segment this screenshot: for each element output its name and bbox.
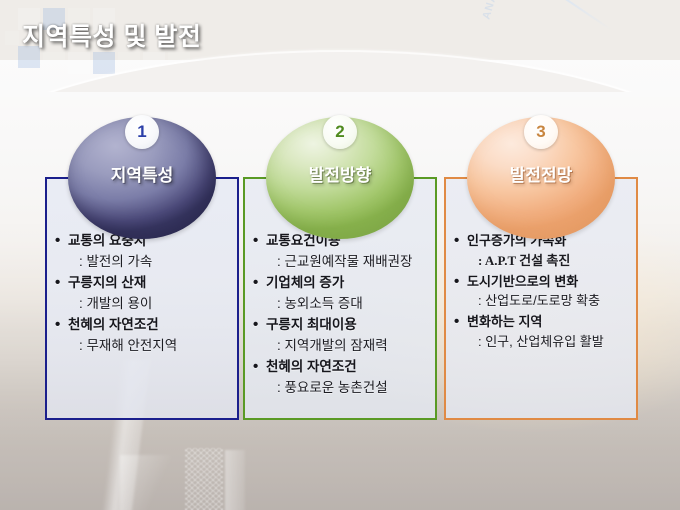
column-local-characteristics: 교통의 요충지 : 발전의 가속 구릉지의 산재 : 개발의 용이 천혜의 자연… (45, 177, 239, 420)
presentation-slide: 704 Kumamoto 58 Sapporo 754 Ko ANA 지역특성 … (0, 0, 680, 510)
bullet-main: 천혜의 자연조건 (53, 315, 233, 336)
bullet-main: 도시기반으로의 변화 (452, 272, 632, 292)
slide-title: 지역특성 및 발전 (22, 17, 201, 53)
column-heading-circle: 발전전망 3 (467, 117, 615, 245)
bullet-main: 변화하는 지역 (452, 312, 632, 332)
column-heading-circle: 지역특성 1 (68, 117, 216, 245)
column-heading-circle: 발전방향 2 (266, 117, 414, 245)
bullet-sub: : 개발의 용이 (53, 294, 233, 315)
bullet-item: 구릉지의 산재 : 개발의 용이 (53, 273, 233, 314)
step-number-badge: 2 (323, 115, 357, 149)
bullet-sub: : A.P.T 건설 촉진 (452, 251, 632, 271)
bullet-sub: : 지역개발의 잠재력 (251, 336, 431, 357)
circle-label: 발전전망 (467, 161, 615, 186)
content-columns: 교통의 요충지 : 발전의 가속 구릉지의 산재 : 개발의 용이 천혜의 자연… (0, 0, 680, 510)
bullet-item: 구릉지 최대이용 : 지역개발의 잠재력 (251, 315, 431, 356)
bullet-item: 기업체의 증가 : 농외소득 증대 (251, 273, 431, 314)
circle-label: 발전방향 (266, 161, 414, 186)
bullet-list: 인구증가의 가속화 : A.P.T 건설 촉진 도시기반으로의 변화 : 산업도… (452, 231, 632, 353)
bullet-sub: : 농외소득 증대 (251, 294, 431, 315)
bullet-sub: : 근교원예작물 재배권장 (251, 252, 431, 273)
bullet-sub: : 인구, 산업체유입 활발 (452, 332, 632, 352)
circle-label: 지역특성 (68, 161, 216, 186)
step-number-badge: 1 (125, 115, 159, 149)
bullet-sub: : 풍요로운 농촌건설 (251, 378, 431, 399)
bullet-sub: : 발전의 가속 (53, 252, 233, 273)
bullet-item: 도시기반으로의 변화 : 산업도로/도로망 확충 (452, 272, 632, 312)
bullet-sub: : 무재해 안전지역 (53, 336, 233, 357)
column-development-outlook: 인구증가의 가속화 : A.P.T 건설 촉진 도시기반으로의 변화 : 산업도… (444, 177, 638, 420)
step-number-badge: 3 (524, 115, 558, 149)
bullet-item: 천혜의 자연조건 : 풍요로운 농촌건설 (251, 357, 431, 398)
bullet-list: 교통의 요충지 : 발전의 가속 구릉지의 산재 : 개발의 용이 천혜의 자연… (53, 231, 233, 357)
bullet-sub: : 산업도로/도로망 확충 (452, 291, 632, 311)
bullet-main: 기업체의 증가 (251, 273, 431, 294)
bullet-main: 구릉지 최대이용 (251, 315, 431, 336)
column-development-direction: 교통요건이용 : 근교원예작물 재배권장 기업체의 증가 : 농외소득 증대 구… (243, 177, 437, 420)
bullet-main: 구릉지의 산재 (53, 273, 233, 294)
bullet-main: 천혜의 자연조건 (251, 357, 431, 378)
bullet-list: 교통요건이용 : 근교원예작물 재배권장 기업체의 증가 : 농외소득 증대 구… (251, 231, 431, 399)
bullet-item: 천혜의 자연조건 : 무재해 안전지역 (53, 315, 233, 356)
bullet-item: 변화하는 지역 : 인구, 산업체유입 활발 (452, 312, 632, 352)
